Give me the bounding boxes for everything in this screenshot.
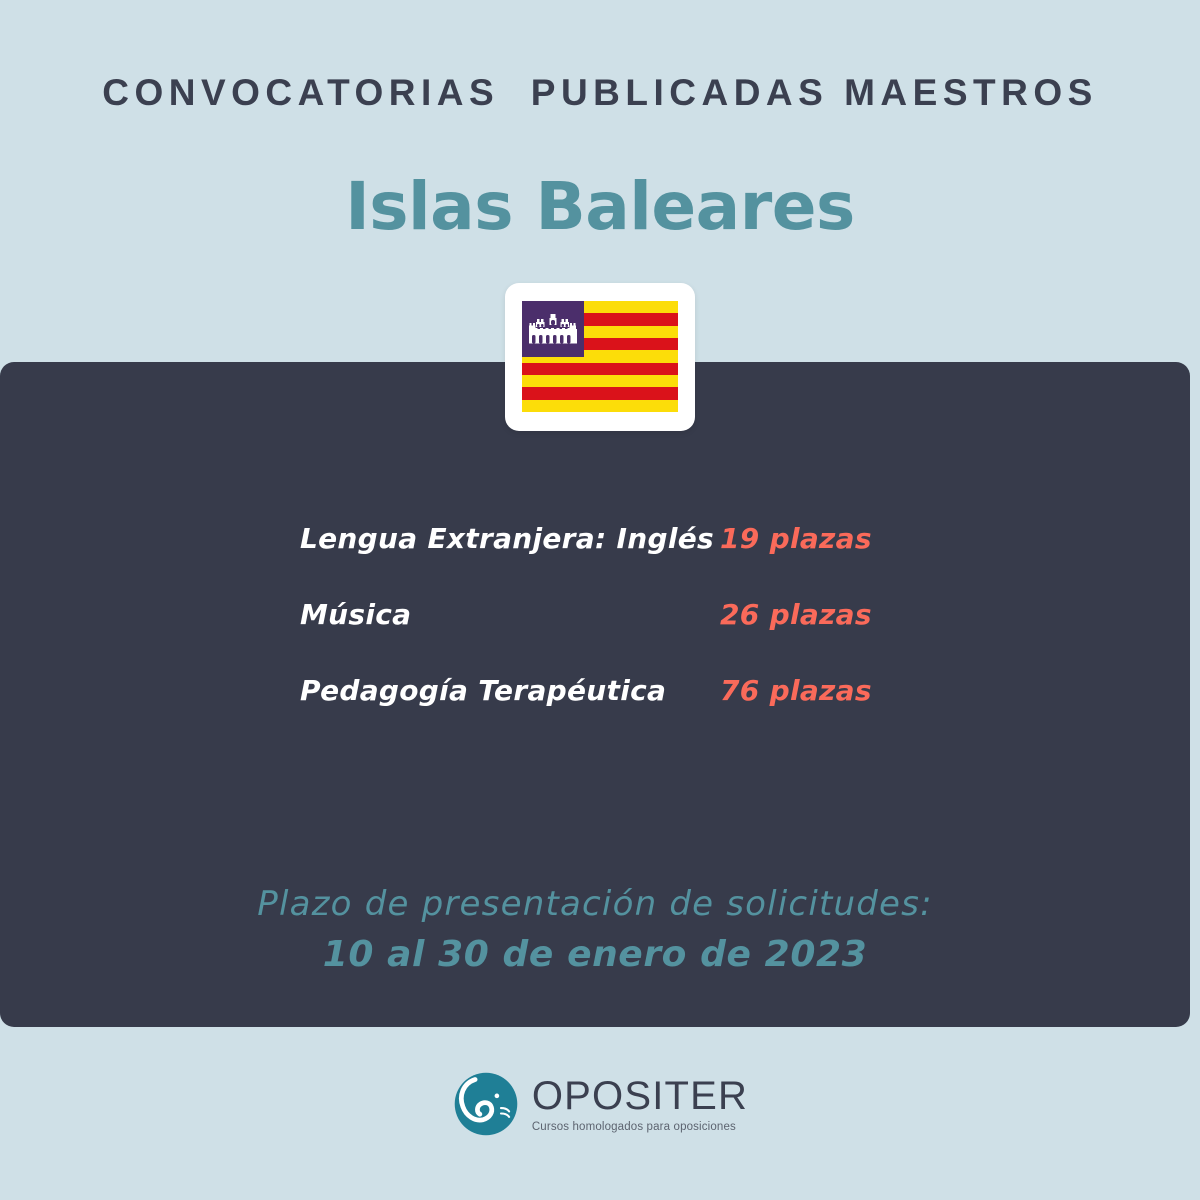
elephant-logo-icon [452,1070,520,1138]
logo-wordmark: OPOSITER [532,1076,748,1116]
application-deadline: Plazo de presentación de solicitudes: 10… [0,882,1190,978]
position-vacancies: 76 plazas [720,674,872,707]
positions-list: Lengua Extranjera: Inglés 19 plazas Músi… [300,522,920,750]
poster-root: { "header": { "kicker": "CONVOCATORIAS P… [0,0,1200,1200]
logo-text-block: OPOSITER Cursos homologados para oposici… [532,1076,748,1133]
flag-stripe [522,400,678,412]
flag-stripe [522,375,678,387]
position-label: Música [300,598,720,631]
deadline-dates: 10 al 30 de enero de 2023 [0,931,1190,979]
flag-stripe [522,387,678,399]
position-vacancies: 19 plazas [720,522,872,555]
position-vacancies: 26 plazas [720,598,872,631]
list-item: Pedagogía Terapéutica 76 plazas [300,674,920,750]
balearic-islands-flag-icon [522,301,678,412]
position-label: Pedagogía Terapéutica [300,674,720,707]
deadline-label: Plazo de presentación de solicitudes: [0,882,1190,927]
position-label: Lengua Extranjera: Inglés [300,522,720,555]
flag-stripe [522,363,678,375]
page-kicker: CONVOCATORIAS PUBLICADAS MAESTROS [0,72,1200,114]
flag-canton [522,301,584,357]
flag-card [505,283,695,431]
list-item: Lengua Extranjera: Inglés 19 plazas [300,522,920,598]
page-title: Islas Baleares [0,168,1200,245]
logo-tagline: Cursos homologados para oposiciones [532,1121,748,1133]
footer-branding: OPOSITER Cursos homologados para oposici… [0,1070,1200,1138]
castle-icon [528,313,578,347]
list-item: Música 26 plazas [300,598,920,674]
